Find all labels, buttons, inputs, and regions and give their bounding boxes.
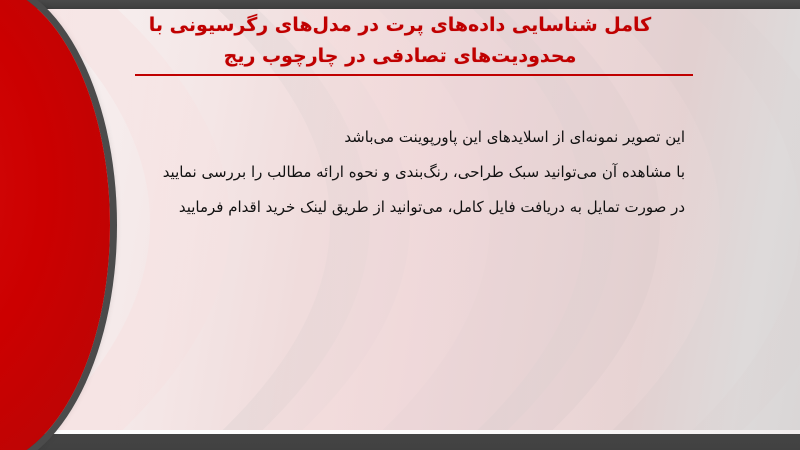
slide-body-line-1: این تصویر نمونه‌ای از اسلایدهای این پاور… <box>85 120 685 155</box>
slide-body-line-2: با مشاهده آن می‌توانید سبک طراحی، رنگ‌بن… <box>85 155 685 190</box>
top-frame-bar <box>0 0 800 9</box>
slide-body-line-3: در صورت تمایل به دریافت فایل کامل، می‌تو… <box>85 190 685 225</box>
slide-title: کامل شناسایی داده‌های پرت در مدل‌های رگر… <box>0 10 800 72</box>
slide-title-line-2: محدودیت‌های تصادفی در چارچوب ریج <box>0 41 800 72</box>
presentation-slide: کامل شناسایی داده‌های پرت در مدل‌های رگر… <box>0 0 800 450</box>
slide-title-line-1: کامل شناسایی داده‌های پرت در مدل‌های رگر… <box>0 10 800 41</box>
slide-body: این تصویر نمونه‌ای از اسلایدهای این پاور… <box>85 120 685 225</box>
title-underline-rule <box>135 74 693 76</box>
bottom-frame-bar <box>0 434 800 450</box>
